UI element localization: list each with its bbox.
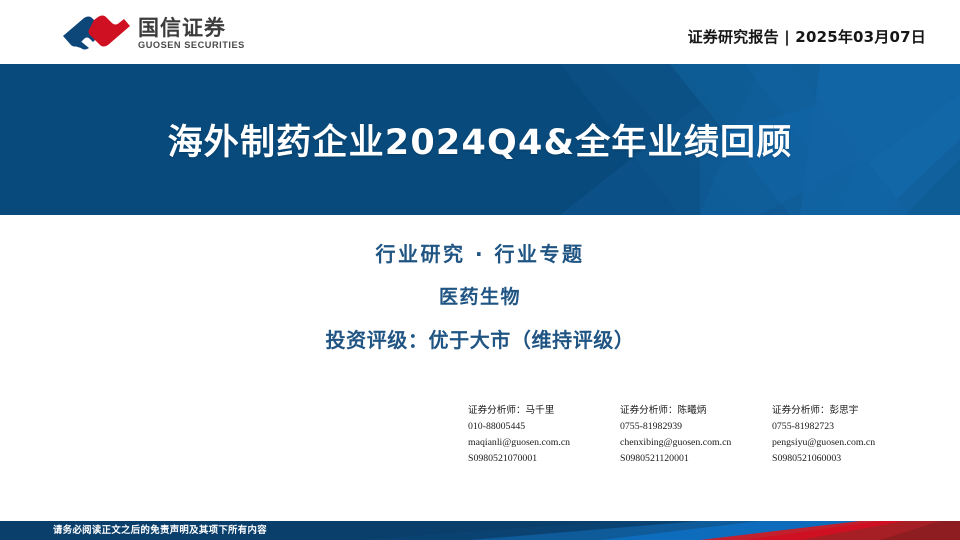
title-banner: 海外制药企业2024Q4&全年业绩回顾	[0, 64, 960, 215]
analyst-name: 证券分析师：马千里	[468, 404, 620, 419]
guosen-swoosh-logo-icon	[60, 14, 134, 54]
analyst-phone: 0755-81982723	[772, 419, 924, 435]
analyst-license: S0980521120001	[620, 451, 772, 467]
research-category: 行业研究 · 行业专题	[0, 238, 960, 267]
analyst-card: 证券分析师：马千里 010-88005445 maqianli@guosen.c…	[468, 404, 620, 466]
footer-disclaimer: 请务必阅读正文之后的免责声明及其项下所有内容	[53, 521, 267, 540]
investment-rating: 投资评级：优于大市（维持评级）	[0, 324, 960, 353]
analyst-card: 证券分析师：陈曦炳 0755-81982939 chenxibing@guose…	[620, 404, 772, 466]
analyst-license: S0980521060003	[772, 451, 924, 467]
report-cover-slide: 国信证券 GUOSEN SECURITIES 证券研究报告 | 2025年03月…	[0, 0, 960, 540]
logo-english-name: GUOSEN SECURITIES	[138, 41, 245, 50]
subtitle-block: 行业研究 · 行业专题 医药生物 投资评级：优于大市（维持评级）	[0, 238, 960, 353]
analyst-email[interactable]: maqianli@guosen.com.cn	[468, 435, 620, 451]
analyst-email[interactable]: chenxibing@guosen.com.cn	[620, 435, 772, 451]
report-type-and-date: 证券研究报告 | 2025年03月07日	[688, 26, 926, 47]
logo-wordmark: 国信证券 GUOSEN SECURITIES	[138, 17, 245, 50]
analyst-list: 证券分析师：马千里 010-88005445 maqianli@guosen.c…	[468, 404, 938, 466]
analyst-card: 证券分析师：彭思宇 0755-81982723 pengsiyu@guosen.…	[772, 404, 924, 466]
report-title-wrap: 海外制药企业2024Q4&全年业绩回顾	[0, 64, 960, 215]
company-logo: 国信证券 GUOSEN SECURITIES	[60, 14, 245, 54]
report-title: 海外制药企业2024Q4&全年业绩回顾	[168, 114, 793, 165]
analyst-email[interactable]: pengsiyu@guosen.com.cn	[772, 435, 924, 451]
analyst-name: 证券分析师：彭思宇	[772, 404, 924, 419]
page-footer: 请务必阅读正文之后的免责声明及其项下所有内容	[0, 521, 960, 540]
analyst-name: 证券分析师：陈曦炳	[620, 404, 772, 419]
logo-chinese-name: 国信证券	[138, 17, 245, 39]
analyst-phone: 010-88005445	[468, 419, 620, 435]
analyst-license: S0980521070001	[468, 451, 620, 467]
analyst-phone: 0755-81982939	[620, 419, 772, 435]
industry-sector: 医药生物	[0, 282, 960, 309]
page-header: 国信证券 GUOSEN SECURITIES 证券研究报告 | 2025年03月…	[0, 0, 960, 64]
